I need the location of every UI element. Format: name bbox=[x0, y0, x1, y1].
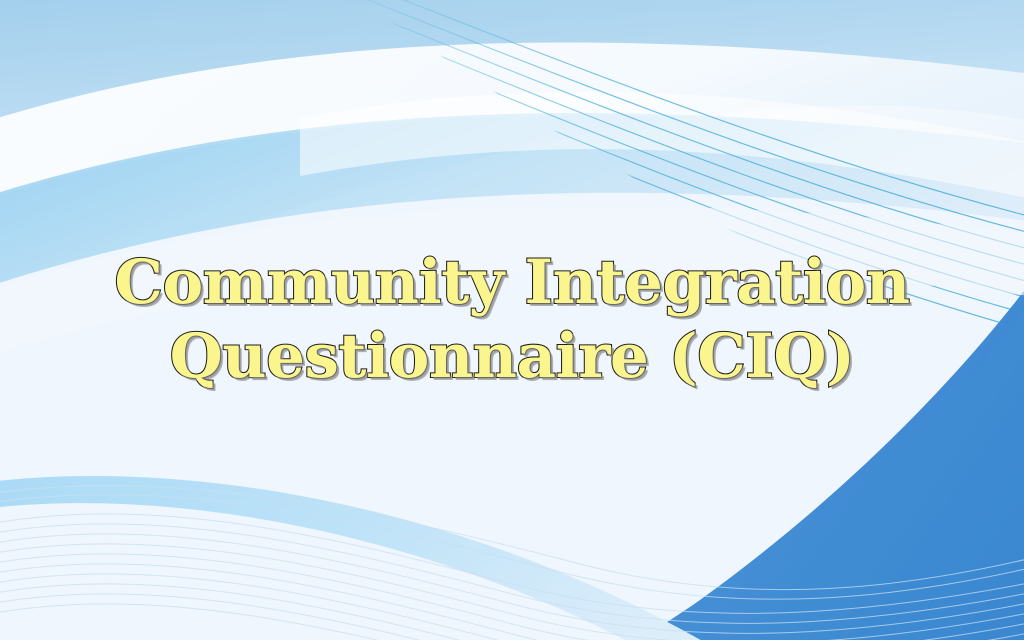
slide-canvas: Community Integration Questionnaire (CIQ… bbox=[0, 0, 1024, 640]
background-decoration bbox=[0, 0, 1024, 640]
